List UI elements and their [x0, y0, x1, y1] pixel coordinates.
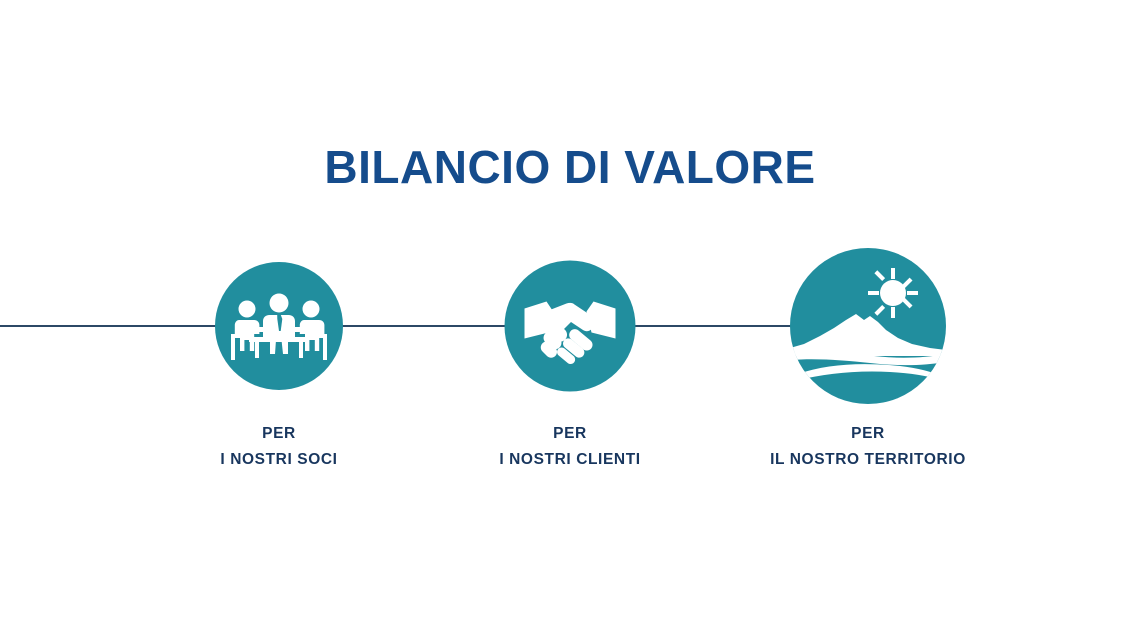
icon-circle-soci[interactable]: [215, 262, 343, 390]
icon-circle-territorio[interactable]: [790, 248, 946, 404]
icon-circle-clienti[interactable]: [505, 261, 636, 392]
page-title: BILANCIO DI VALORE: [0, 143, 1140, 191]
landscape-sun-mountain-icon: [790, 248, 946, 404]
caption-soci: PER I NOSTRI SOCI: [220, 421, 337, 472]
caption-line2: IL NOSTRO TERRITORIO: [770, 447, 966, 473]
connector-line: [0, 325, 872, 327]
caption-territorio: PER IL NOSTRO TERRITORIO: [770, 421, 966, 472]
handshake-icon: [505, 261, 636, 392]
caption-line1: PER: [220, 421, 337, 447]
caption-line1: PER: [499, 421, 640, 447]
caption-line2: I NOSTRI CLIENTI: [499, 447, 640, 473]
caption-clienti: PER I NOSTRI CLIENTI: [499, 421, 640, 472]
caption-line2: I NOSTRI SOCI: [220, 447, 337, 473]
caption-line1: PER: [770, 421, 966, 447]
meeting-people-icon: [215, 262, 343, 390]
slide-canvas: BILANCIO DI VALORE: [0, 0, 1140, 642]
